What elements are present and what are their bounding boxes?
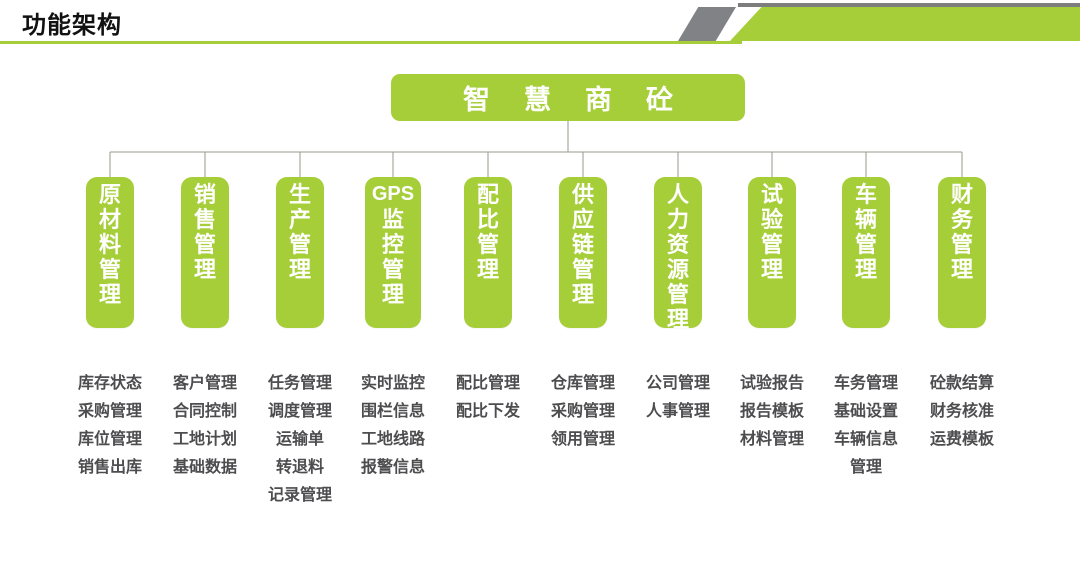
branch-label-line: 配 bbox=[477, 182, 499, 207]
branch-label-line: GPS bbox=[372, 182, 414, 207]
branch-box-finance[interactable]: 财务管理 bbox=[938, 177, 986, 328]
branch-label-line: 管 bbox=[99, 257, 121, 282]
header-gray-top-bar bbox=[738, 3, 1080, 7]
header-gray-parallelogram bbox=[678, 7, 736, 41]
detail-item[interactable]: 实时监控 bbox=[346, 370, 440, 398]
detail-item[interactable]: 合同控制 bbox=[158, 398, 252, 426]
detail-item[interactable]: 领用管理 bbox=[536, 426, 630, 454]
branch-label-line: 理 bbox=[382, 282, 404, 307]
detail-column-production: 任务管理调度管理运输单转退料记录管理 bbox=[253, 370, 347, 510]
detail-column-testing: 试验报告报告模板材料管理 bbox=[725, 370, 819, 454]
detail-item[interactable]: 管理 bbox=[819, 454, 913, 482]
branch-label-line: 材 bbox=[99, 207, 121, 232]
detail-item[interactable]: 工地计划 bbox=[158, 426, 252, 454]
branch-label-line: 应 bbox=[572, 207, 594, 232]
branch-label-line: 管 bbox=[382, 257, 404, 282]
detail-item[interactable]: 工地线路 bbox=[346, 426, 440, 454]
detail-item[interactable]: 配比管理 bbox=[441, 370, 535, 398]
detail-column-vehicle: 车务管理基础设置车辆信息管理 bbox=[819, 370, 913, 482]
branch-label-line: 管 bbox=[667, 282, 689, 307]
detail-item[interactable]: 报告模板 bbox=[725, 398, 819, 426]
detail-item[interactable]: 采购管理 bbox=[536, 398, 630, 426]
branch-label-line: 生 bbox=[289, 182, 311, 207]
branch-label-line: 验 bbox=[761, 207, 783, 232]
detail-item[interactable]: 材料管理 bbox=[725, 426, 819, 454]
branch-label-line: 监 bbox=[382, 207, 404, 232]
detail-column-finance: 砼款结算财务核准运费模板 bbox=[915, 370, 1009, 454]
detail-column-gps-monitor: 实时监控围栏信息工地线路报警信息 bbox=[346, 370, 440, 482]
branch-label-line: 控 bbox=[382, 232, 404, 257]
branch-label-line: 辆 bbox=[855, 207, 877, 232]
branch-label-line: 财 bbox=[951, 182, 973, 207]
detail-column-sales: 客户管理合同控制工地计划基础数据 bbox=[158, 370, 252, 482]
branch-label-line: 供 bbox=[572, 182, 594, 207]
branch-box-gps-monitor[interactable]: GPS监控管理 bbox=[365, 177, 421, 328]
branch-label-line: 比 bbox=[477, 207, 499, 232]
title-underline-rule bbox=[0, 41, 742, 44]
branch-label-line: 理 bbox=[951, 257, 973, 282]
detail-item[interactable]: 财务核准 bbox=[915, 398, 1009, 426]
branch-box-mix-ratio[interactable]: 配比管理 bbox=[464, 177, 512, 328]
branch-label-line: 理 bbox=[99, 282, 121, 307]
branch-label-line: 务 bbox=[951, 207, 973, 232]
branch-box-testing[interactable]: 试验管理 bbox=[748, 177, 796, 328]
branch-label-line: 管 bbox=[761, 232, 783, 257]
branch-label-line: 销 bbox=[194, 182, 216, 207]
detail-item[interactable]: 运输单 bbox=[253, 426, 347, 454]
branch-label-line: 人 bbox=[667, 182, 689, 207]
page-title: 功能架构 bbox=[22, 5, 122, 40]
branch-label-line: 管 bbox=[477, 232, 499, 257]
detail-item[interactable]: 转退料 bbox=[253, 454, 347, 482]
branch-label-line: 售 bbox=[194, 207, 216, 232]
detail-item[interactable]: 记录管理 bbox=[253, 482, 347, 510]
branch-box-vehicle[interactable]: 车辆管理 bbox=[842, 177, 890, 328]
branch-label-line: 试 bbox=[761, 182, 783, 207]
detail-item[interactable]: 调度管理 bbox=[253, 398, 347, 426]
branch-label-line: 力 bbox=[667, 207, 689, 232]
detail-item[interactable]: 人事管理 bbox=[631, 398, 725, 426]
detail-item[interactable]: 基础设置 bbox=[819, 398, 913, 426]
detail-column-raw-material: 库存状态采购管理库位管理销售出库 bbox=[63, 370, 157, 482]
slide-header: 功能架构 bbox=[0, 0, 1080, 48]
branch-label-line: 理 bbox=[761, 257, 783, 282]
detail-column-mix-ratio: 配比管理配比下发 bbox=[441, 370, 535, 426]
detail-item[interactable]: 仓库管理 bbox=[536, 370, 630, 398]
root-node-smart-concrete[interactable]: 智慧商砼 bbox=[391, 74, 745, 121]
branch-label-line: 车 bbox=[855, 182, 877, 207]
branch-label-line: 资 bbox=[667, 232, 689, 257]
detail-item[interactable]: 采购管理 bbox=[63, 398, 157, 426]
branch-box-production[interactable]: 生产管理 bbox=[276, 177, 324, 328]
detail-item[interactable]: 库存状态 bbox=[63, 370, 157, 398]
branch-label-line: 理 bbox=[289, 257, 311, 282]
branch-label-line: 管 bbox=[289, 232, 311, 257]
detail-item[interactable]: 销售出库 bbox=[63, 454, 157, 482]
branch-box-human-resources[interactable]: 人力资源管理 bbox=[654, 177, 702, 328]
branch-label-line: 链 bbox=[572, 232, 594, 257]
detail-item[interactable]: 基础数据 bbox=[158, 454, 252, 482]
branch-label-line: 理 bbox=[667, 307, 689, 332]
detail-column-human-resources: 公司管理人事管理 bbox=[631, 370, 725, 426]
branch-label-line: 管 bbox=[855, 232, 877, 257]
detail-item[interactable]: 客户管理 bbox=[158, 370, 252, 398]
detail-item[interactable]: 公司管理 bbox=[631, 370, 725, 398]
detail-column-supply-chain: 仓库管理采购管理领用管理 bbox=[536, 370, 630, 454]
detail-item[interactable]: 车务管理 bbox=[819, 370, 913, 398]
branch-label-line: 原 bbox=[99, 182, 121, 207]
branch-label-line: 管 bbox=[951, 232, 973, 257]
branch-label-line: 理 bbox=[572, 282, 594, 307]
branch-label-line: 理 bbox=[855, 257, 877, 282]
slide-canvas: 功能架构 智慧商砼 原材料管理销售管理生产管理GPS监控管理配比管理供应链管理人… bbox=[0, 0, 1080, 565]
branch-box-sales[interactable]: 销售管理 bbox=[181, 177, 229, 328]
detail-item[interactable]: 运费模板 bbox=[915, 426, 1009, 454]
branch-label-line: 产 bbox=[289, 207, 311, 232]
branch-label-line: 理 bbox=[194, 257, 216, 282]
branch-box-supply-chain[interactable]: 供应链管理 bbox=[559, 177, 607, 328]
detail-item[interactable]: 车辆信息 bbox=[819, 426, 913, 454]
detail-item[interactable]: 砼款结算 bbox=[915, 370, 1009, 398]
branch-label-line: 管 bbox=[572, 257, 594, 282]
detail-item[interactable]: 围栏信息 bbox=[346, 398, 440, 426]
branch-label-line: 管 bbox=[194, 232, 216, 257]
branch-label-line: 理 bbox=[477, 257, 499, 282]
detail-item[interactable]: 任务管理 bbox=[253, 370, 347, 398]
branch-label-line: 源 bbox=[667, 257, 689, 282]
detail-item[interactable]: 库位管理 bbox=[63, 426, 157, 454]
branch-box-raw-material[interactable]: 原材料管理 bbox=[86, 177, 134, 328]
header-green-parallelogram bbox=[730, 7, 1080, 41]
detail-item[interactable]: 配比下发 bbox=[441, 398, 535, 426]
branch-label-line: 料 bbox=[99, 232, 121, 257]
detail-item[interactable]: 试验报告 bbox=[725, 370, 819, 398]
detail-item[interactable]: 报警信息 bbox=[346, 454, 440, 482]
